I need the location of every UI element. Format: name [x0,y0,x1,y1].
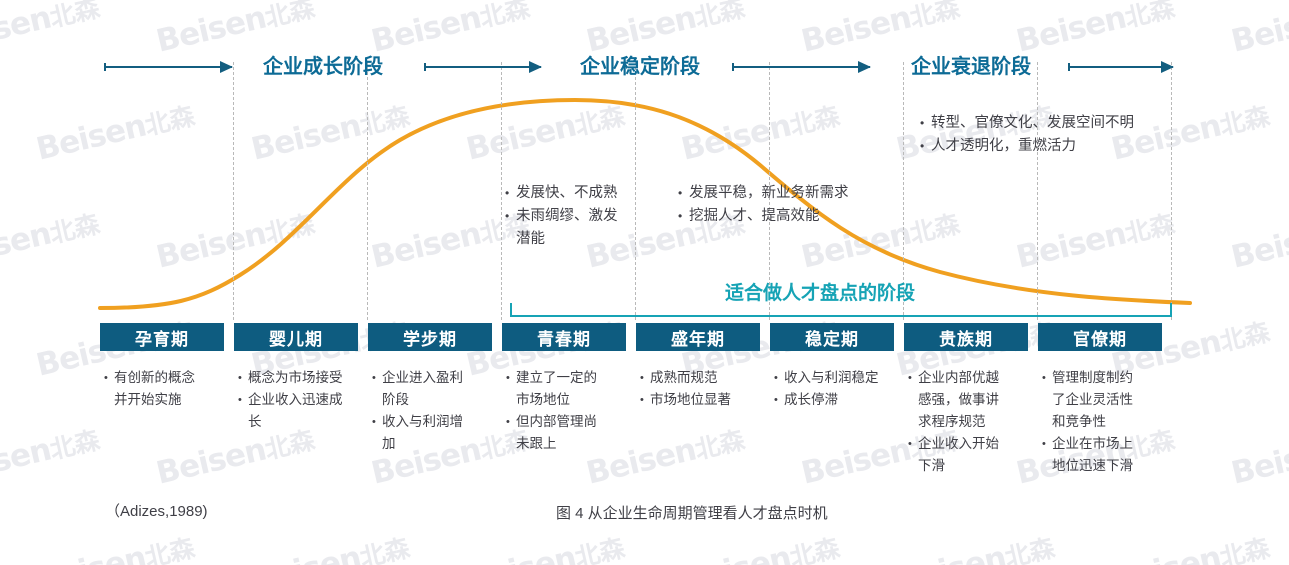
stage-bullet-line: 阶段 [372,389,500,411]
stage-box-5[interactable]: 盛年期 [636,323,760,351]
callout-line: 人才透明化，重燃活力 [920,135,1240,158]
callout-line: 未雨绸缪、激发 [505,205,633,228]
stage-description-6: 收入与利润稳定成长停滞 [774,367,902,411]
stage-description-8: 管理制度制约了企业灵活性和竞争性企业在市场上地位迅速下滑 [1042,367,1170,477]
stage-description-5: 成熟而规范市场地位显著 [640,367,768,411]
stage-bullet-line: 管理制度制约 [1042,367,1170,389]
stage-description-2: 概念为市场接受企业收入迅速成长 [238,367,366,433]
stage-description-1: 有创新的概念并开始实施 [104,367,232,411]
talent-review-bracket-label: 适合做人才盘点的阶段 [725,278,915,305]
stage-bullet-line: 感强，做事讲 [908,389,1036,411]
stage-bullet-line: 市场地位 [506,389,634,411]
stage-bullet-line: 成长停滞 [774,389,902,411]
stage-box-label: 稳定期 [805,325,859,350]
stage-bullet-line: 求程序规范 [908,411,1036,433]
stage-box-7[interactable]: 贵族期 [904,323,1028,351]
stage-box-label: 盛年期 [671,325,725,350]
stage-box-label: 婴儿期 [269,325,323,350]
stage-description-7: 企业内部优越感强，做事讲求程序规范企业收入开始下滑 [908,367,1036,477]
stage-box-label: 孕育期 [135,325,189,350]
stage-box-6[interactable]: 稳定期 [770,323,894,351]
stage-bullet-line: 收入与利润增 [372,411,500,433]
stage-box-label: 学步期 [403,325,457,350]
callout-decline: 转型、官僚文化、发展空间不明 人才透明化，重燃活力 [920,112,1240,158]
stage-box-label: 官僚期 [1073,325,1127,350]
callout-prime: 发展平稳，新业务新需求 挖掘人才、提高效能 [678,182,978,228]
stage-bullet-line: 企业收入开始 [908,433,1036,455]
stage-bullet-line: 未跟上 [506,433,634,455]
stage-box-4[interactable]: 青春期 [502,323,626,351]
stage-bullet-line: 地位迅速下滑 [1042,455,1170,477]
callout-line: 转型、官僚文化、发展空间不明 [920,112,1240,135]
stage-description-4: 建立了一定的市场地位但内部管理尚未跟上 [506,367,634,455]
stage-box-label: 贵族期 [939,325,993,350]
stage-bullet-line: 但内部管理尚 [506,411,634,433]
stage-bullet-line: 企业内部优越 [908,367,1036,389]
talent-review-bracket-group [510,303,1172,323]
callout-line: 潜能 [505,228,633,251]
stage-bullet-line: 企业收入迅速成 [238,389,366,411]
callout-line: 发展平稳，新业务新需求 [678,182,978,205]
callout-line: 发展快、不成熟 [505,182,633,205]
stage-box-1[interactable]: 孕育期 [100,323,224,351]
stage-columns: 孕育期有创新的概念并开始实施婴儿期概念为市场接受企业收入迅速成长学步期企业进入盈… [0,0,1289,565]
stage-box-label: 青春期 [537,325,591,350]
callout-line: 挖掘人才、提高效能 [678,205,978,228]
stage-box-2[interactable]: 婴儿期 [234,323,358,351]
stage-bullet-line: 并开始实施 [104,389,232,411]
talent-review-bracket [510,303,1172,317]
stage-box-8[interactable]: 官僚期 [1038,323,1162,351]
stage-bullet-line: 市场地位显著 [640,389,768,411]
figure-caption: 图 4 从企业生命周期管理看人才盘点时机 [556,502,828,523]
source-citation: （Adizes,1989) [105,500,208,521]
stage-bullet-line: 概念为市场接受 [238,367,366,389]
stage-bullet-line: 建立了一定的 [506,367,634,389]
stage-bullet-line: 收入与利润稳定 [774,367,902,389]
stage-bullet-line: 有创新的概念 [104,367,232,389]
callout-youth: 发展快、不成熟 未雨绸缪、激发 潜能 [505,182,633,251]
stage-bullet-line: 了企业灵活性 [1042,389,1170,411]
stage-description-3: 企业进入盈利阶段收入与利润增加 [372,367,500,455]
stage-box-3[interactable]: 学步期 [368,323,492,351]
stage-bullet-line: 企业在市场上 [1042,433,1170,455]
stage-bullet-line: 长 [238,411,366,433]
stage-bullet-line: 和竞争性 [1042,411,1170,433]
stage-bullet-line: 下滑 [908,455,1036,477]
stage-bullet-line: 加 [372,433,500,455]
stage-bullet-line: 企业进入盈利 [372,367,500,389]
stage-bullet-line: 成熟而规范 [640,367,768,389]
